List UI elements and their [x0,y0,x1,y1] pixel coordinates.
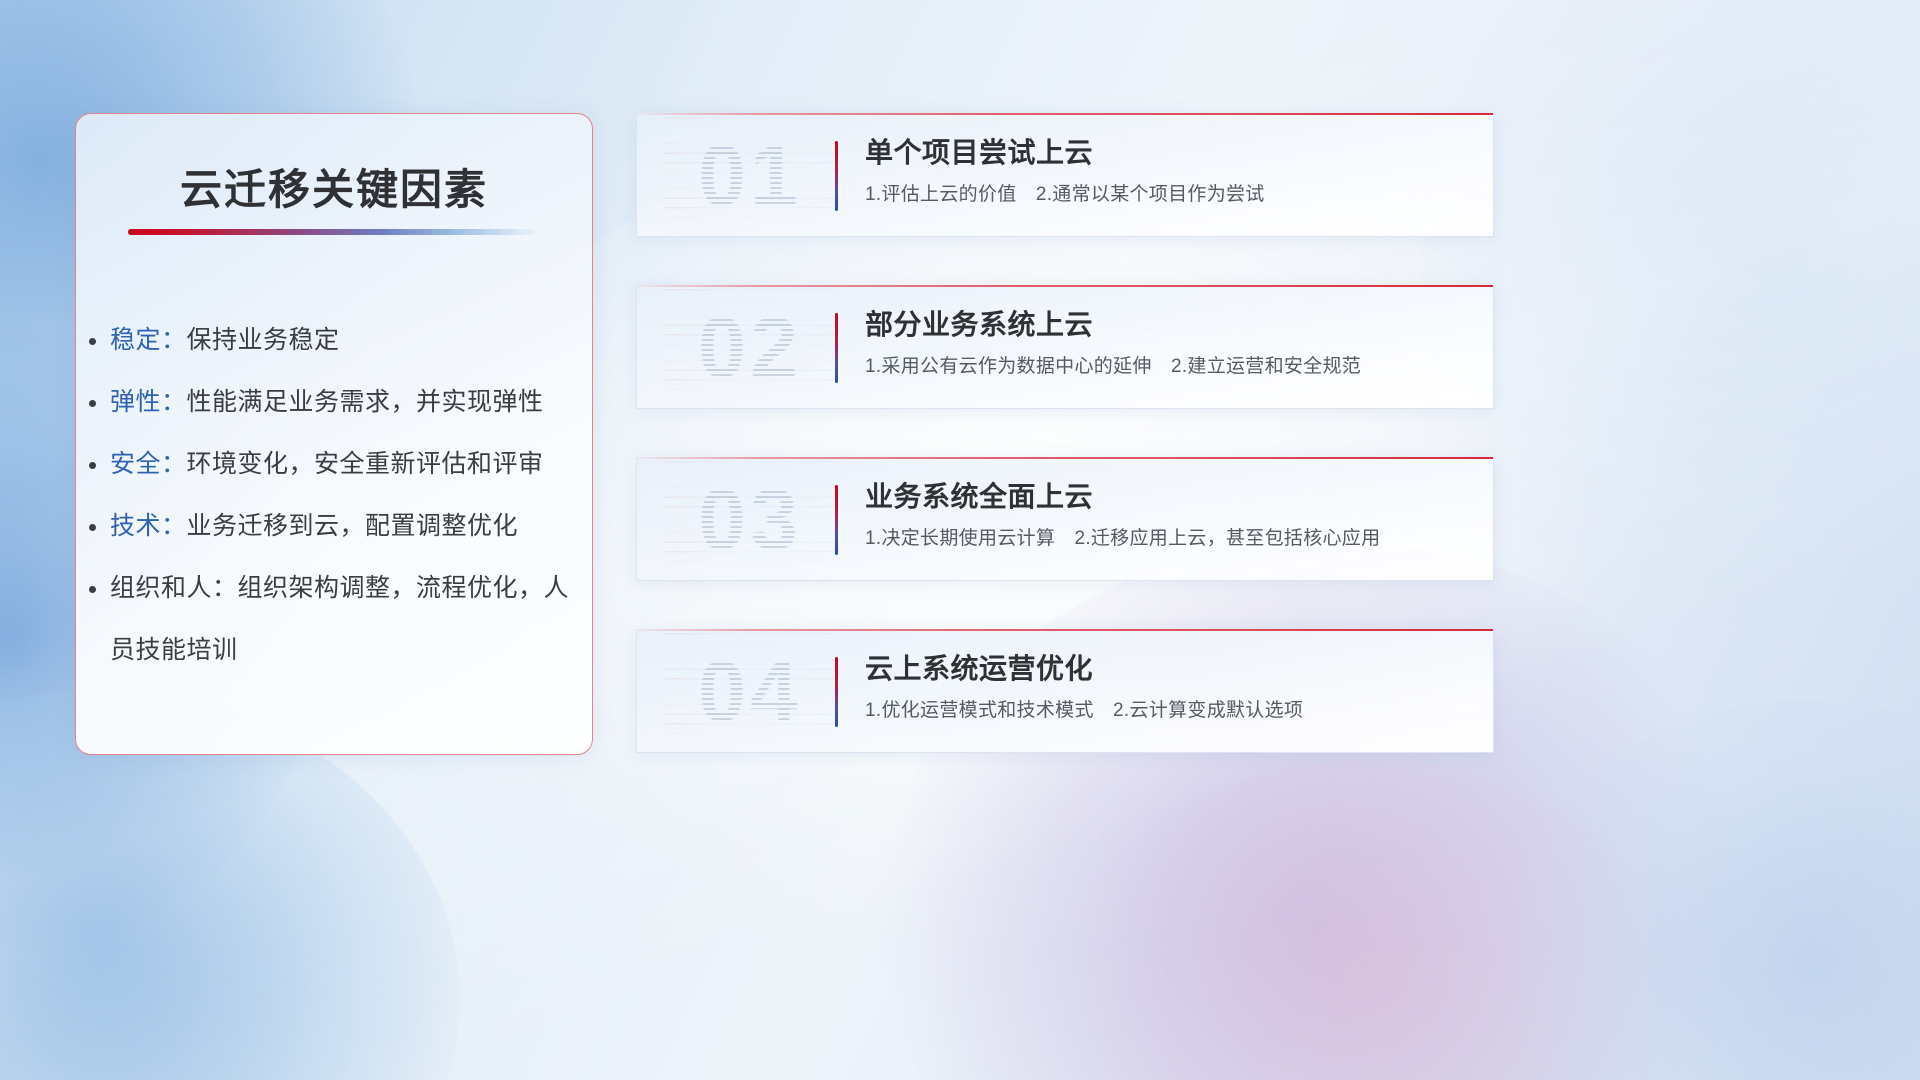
card-divider-bar [835,313,838,383]
card-title: 云上系统运营优化 [865,649,1469,689]
panel-title: 云迁移关键因素 [76,156,592,217]
card-top-accent-line [637,629,1493,631]
key-factor-item: 技术：业务迁移到云，配置调整优化 [110,495,570,557]
card-top-accent-line [637,457,1493,459]
key-factor-text: 业务迁移到云，配置调整优化 [187,512,519,540]
key-factor-text: 环境变化，安全重新评估和评审 [187,450,544,478]
stage-number-watermark: 01 [665,117,835,235]
card-divider-bar [835,485,838,555]
card-divider-bar [835,141,838,211]
key-factor-label: 组织和人： [110,574,238,602]
card-body: 云上系统运营优化1.优化运营模式和技术模式 2.云计算变成默认选项 [865,649,1469,725]
card-title: 部分业务系统上云 [865,305,1469,345]
card-top-accent-line [637,113,1493,115]
key-factor-label: 弹性： [110,388,187,416]
card-body: 部分业务系统上云1.采用公有云作为数据中心的延伸 2.建立运营和安全规范 [865,305,1469,381]
card-body: 业务系统全面上云1.决定长期使用云计算 2.迁移应用上云，甚至包括核心应用 [865,477,1469,553]
card-divider-bar [835,657,838,727]
stage-number-watermark: 04 [665,633,835,751]
key-factor-label: 安全： [110,450,187,478]
card-subtitle: 1.评估上云的价值 2.通常以某个项目作为尝试 [865,181,1469,209]
key-factor-item: 组织和人：组织架构调整，流程优化，人员技能培训 [110,557,570,681]
panel-title-underline [128,229,540,235]
key-factor-text: 保持业务稳定 [187,326,340,354]
stage-card[interactable]: 01单个项目尝试上云1.评估上云的价值 2.通常以某个项目作为尝试 [636,113,1494,237]
card-title: 业务系统全面上云 [865,477,1469,517]
stage-number-watermark: 03 [665,461,835,579]
card-body: 单个项目尝试上云1.评估上云的价值 2.通常以某个项目作为尝试 [865,133,1469,209]
card-subtitle: 1.采用公有云作为数据中心的延伸 2.建立运营和安全规范 [865,353,1469,381]
key-factor-label: 稳定： [110,326,187,354]
card-subtitle: 1.优化运营模式和技术模式 2.云计算变成默认选项 [865,697,1469,725]
card-title: 单个项目尝试上云 [865,133,1469,173]
card-subtitle: 1.决定长期使用云计算 2.迁移应用上云，甚至包括核心应用 [865,525,1469,553]
key-factors-panel: 云迁移关键因素 稳定：保持业务稳定弹性：性能满足业务需求，并实现弹性安全：环境变… [75,113,593,755]
key-factor-item: 安全：环境变化，安全重新评估和评审 [110,433,570,495]
key-factor-text: 性能满足业务需求，并实现弹性 [187,388,544,416]
stage-card[interactable]: 02部分业务系统上云1.采用公有云作为数据中心的延伸 2.建立运营和安全规范 [636,285,1494,409]
key-factor-item: 弹性：性能满足业务需求，并实现弹性 [110,371,570,433]
card-top-accent-line [637,285,1493,287]
slide-content: 云迁移关键因素 稳定：保持业务稳定弹性：性能满足业务需求，并实现弹性安全：环境变… [0,0,1920,1080]
key-factor-item: 稳定：保持业务稳定 [110,309,570,371]
stage-number-watermark: 02 [665,289,835,407]
stage-card[interactable]: 04云上系统运营优化1.优化运营模式和技术模式 2.云计算变成默认选项 [636,629,1494,753]
key-factors-list: 稳定：保持业务稳定弹性：性能满足业务需求，并实现弹性安全：环境变化，安全重新评估… [110,309,570,681]
key-factor-label: 技术： [110,512,187,540]
stage-card[interactable]: 03业务系统全面上云1.决定长期使用云计算 2.迁移应用上云，甚至包括核心应用 [636,457,1494,581]
